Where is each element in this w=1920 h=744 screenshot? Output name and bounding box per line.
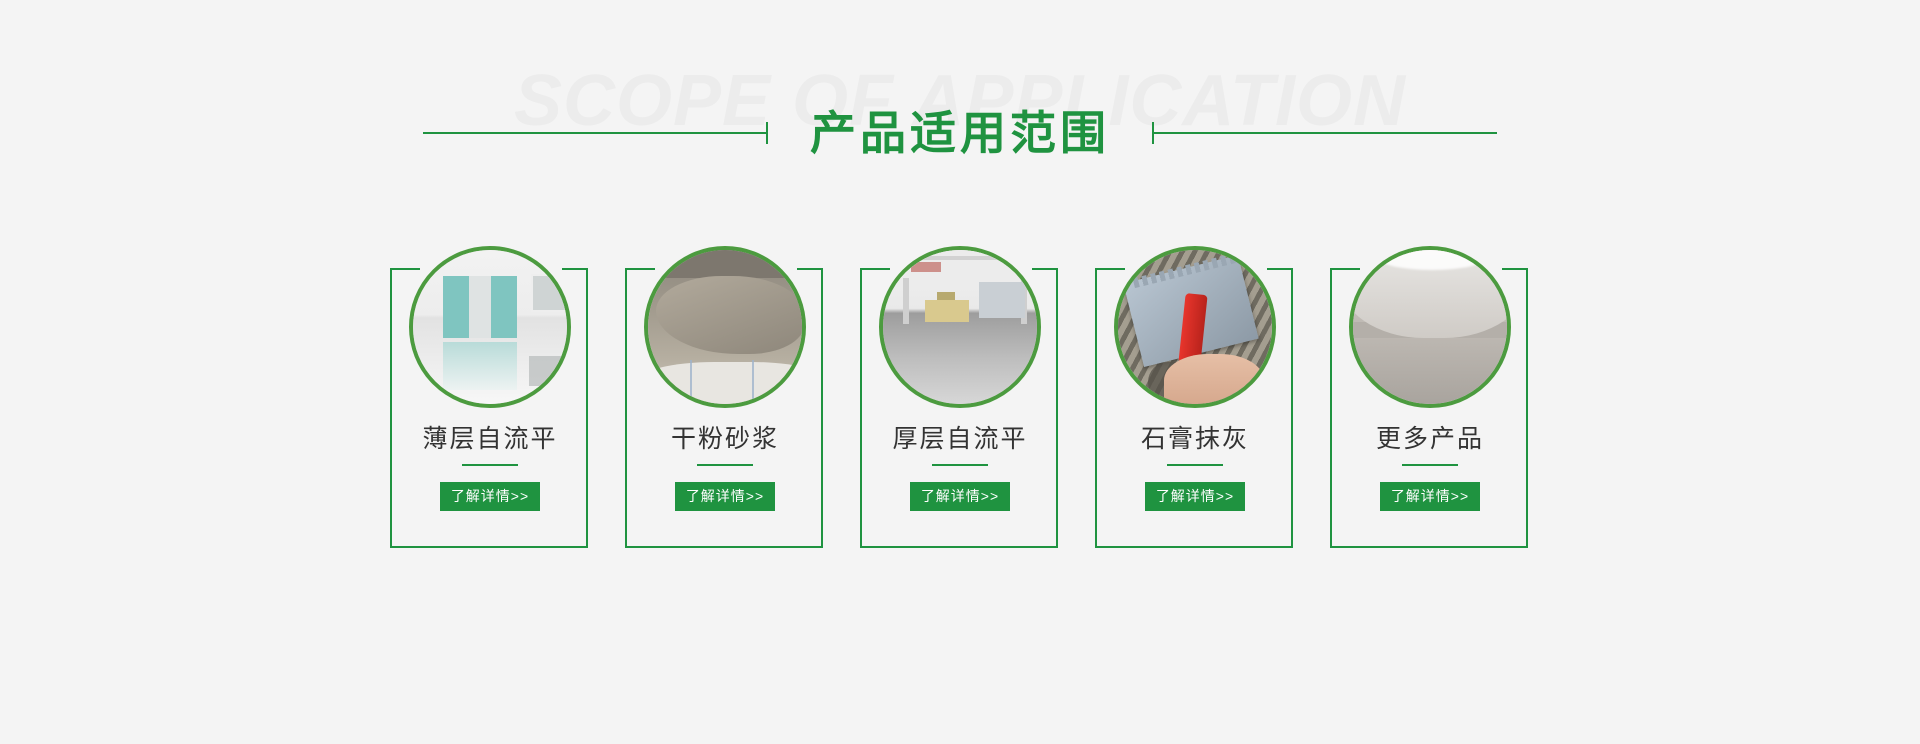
title-row: 产品适用范围 [0, 110, 1920, 156]
card-label: 薄层自流平 [390, 426, 590, 454]
detail-button[interactable]: 了解详情>> [910, 482, 1010, 511]
product-card-list: 薄层自流平 了解详情>> 干粉砂浆 了解详情>> [0, 248, 1920, 511]
card-image-circle [644, 246, 806, 408]
polished-slab-photo [1353, 250, 1507, 404]
card-label-underline [932, 464, 988, 466]
card-label-underline [1167, 464, 1223, 466]
product-card[interactable]: 更多产品 了解详情>> [1330, 248, 1530, 511]
glossy-epoxy-floor-photo [413, 250, 567, 404]
title-tick-right [1152, 122, 1154, 144]
card-label-underline [462, 464, 518, 466]
card-label: 干粉砂浆 [625, 426, 825, 454]
warehouse-floor-photo [883, 250, 1037, 404]
title-rule-right [1152, 132, 1497, 134]
card-label-underline [697, 464, 753, 466]
detail-button[interactable]: 了解详情>> [440, 482, 540, 511]
product-card[interactable]: 干粉砂浆 了解详情>> [625, 248, 825, 511]
dry-mortar-powder-photo [648, 250, 802, 404]
page-title: 产品适用范围 [768, 110, 1152, 156]
section-header: SCOPE OF APPLICATION 产品适用范围 [0, 0, 1920, 210]
product-card[interactable]: 厚层自流平 了解详情>> [860, 248, 1060, 511]
card-image-circle [1114, 246, 1276, 408]
detail-button[interactable]: 了解详情>> [675, 482, 775, 511]
card-label: 厚层自流平 [860, 426, 1060, 454]
card-image-circle [409, 246, 571, 408]
card-image-circle [1349, 246, 1511, 408]
card-label-underline [1402, 464, 1458, 466]
card-image-circle [879, 246, 1041, 408]
title-rule-left [423, 132, 768, 134]
scope-of-application-section: SCOPE OF APPLICATION 产品适用范围 薄层自流平 了解详情>> [0, 0, 1920, 744]
product-card[interactable]: 薄层自流平 了解详情>> [390, 248, 590, 511]
detail-button[interactable]: 了解详情>> [1380, 482, 1480, 511]
detail-button[interactable]: 了解详情>> [1145, 482, 1245, 511]
title-tick-left [766, 122, 768, 144]
card-label: 石膏抹灰 [1095, 426, 1295, 454]
card-label: 更多产品 [1330, 426, 1530, 454]
product-card[interactable]: 石膏抹灰 了解详情>> [1095, 248, 1295, 511]
notched-trowel-plaster-photo [1118, 250, 1272, 404]
